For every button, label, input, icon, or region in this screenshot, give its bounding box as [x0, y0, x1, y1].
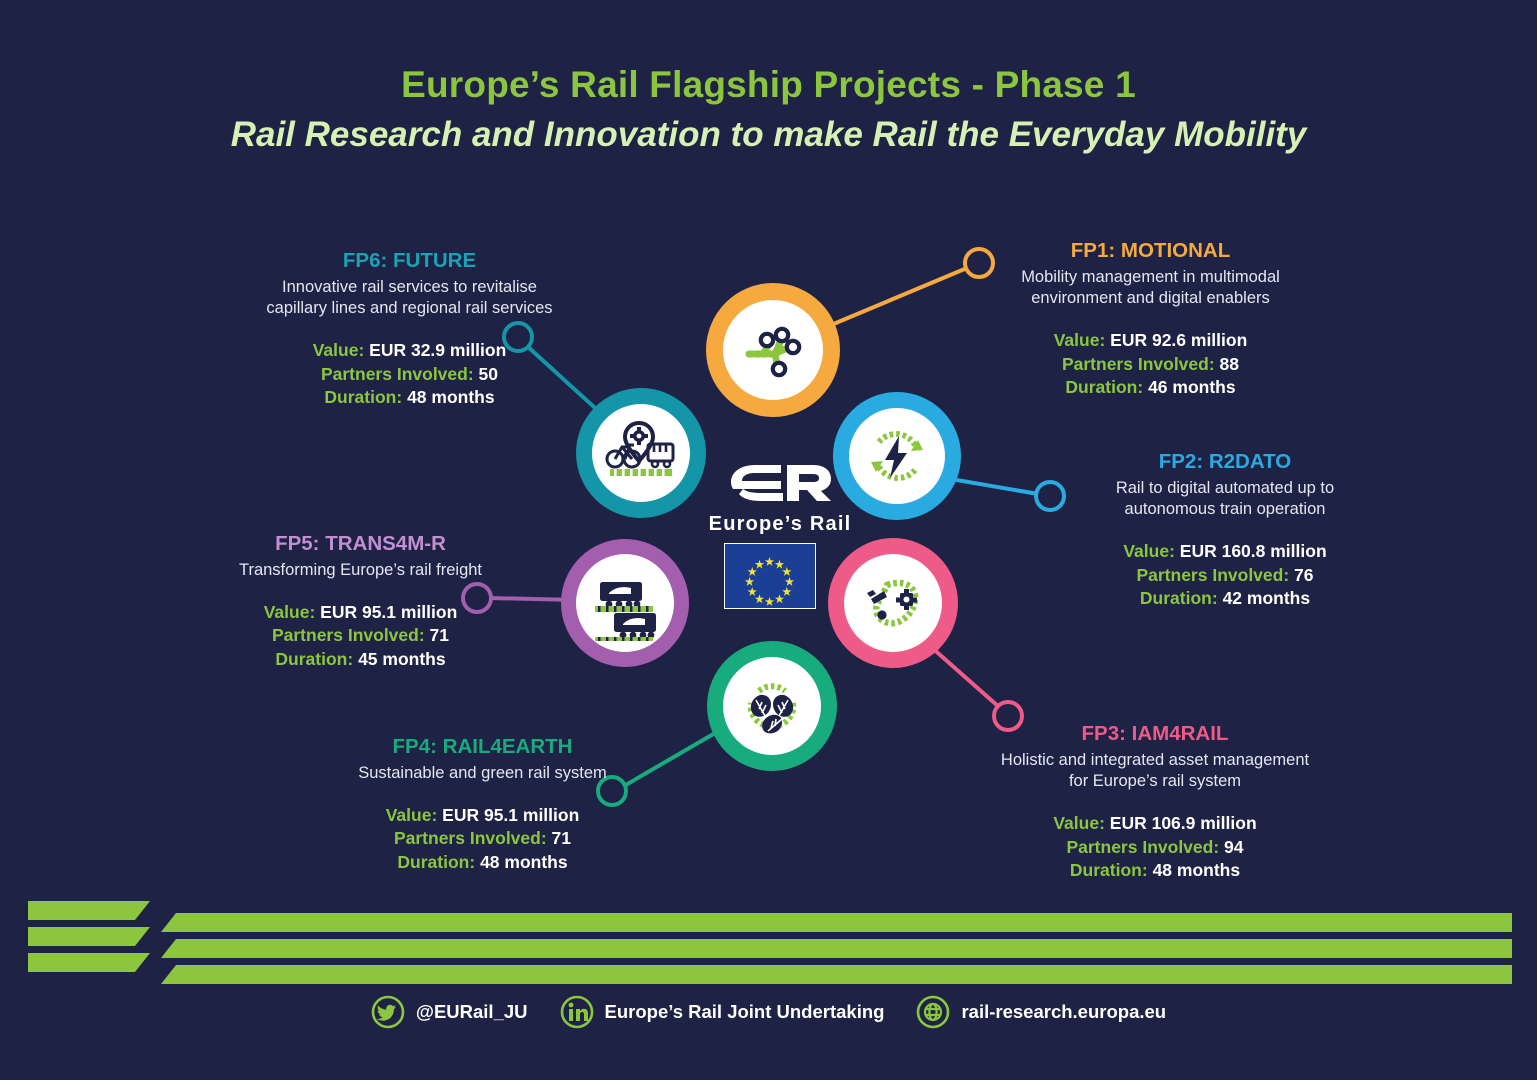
partners-fp1: 88 — [1220, 354, 1239, 374]
duration-fp4: 48 months — [480, 852, 568, 872]
logo-wordmark: Europe’s Rail — [700, 513, 860, 536]
project-title-fp2: FP2: R2DATO — [1075, 450, 1375, 475]
project-info-fp5: FP5: TRANS4M-R Transforming Europe’s rai… — [238, 532, 483, 671]
project-info-fp6: FP6: FUTURE Innovative rail services to … — [262, 249, 557, 409]
duration-fp1: 46 months — [1148, 377, 1236, 397]
partners-fp4: 71 — [552, 828, 571, 848]
project-stats-fp1: Value: EUR 92.6 million Partners Involve… — [993, 329, 1308, 399]
project-stats-fp6: Value: EUR 32.9 million Partners Involve… — [262, 339, 557, 409]
value-label: Value: — [386, 805, 438, 825]
social-label-twitter: @EURail_JU — [416, 1001, 528, 1023]
european-union-flag — [724, 543, 816, 609]
project-stats-fp5: Value: EUR 95.1 million Partners Involve… — [238, 601, 483, 671]
infographic-canvas: Europe’s Rail Flagship Projects - Phase … — [0, 0, 1537, 1080]
duration-label: Duration: — [1065, 377, 1143, 397]
page-title: Europe’s Rail Flagship Projects - Phase … — [0, 62, 1537, 157]
project-desc-fp2: Rail to digital automated up to autonomo… — [1075, 478, 1375, 521]
title-subtitle: Rail Research and Innovation to make Rai… — [0, 113, 1537, 157]
partners-label: Partners Involved: — [1136, 565, 1289, 585]
value-label: Value: — [1053, 813, 1105, 833]
partners-label: Partners Involved: — [1066, 837, 1219, 857]
leaves-recycle-icon — [735, 669, 809, 743]
project-hub-fp5[interactable] — [561, 539, 689, 667]
value-label: Value: — [264, 602, 316, 622]
project-info-fp2: FP2: R2DATO Rail to digital automated up… — [1075, 450, 1375, 610]
project-title-fp1: FP1: MOTIONAL — [993, 239, 1308, 264]
social-item-linkedin[interactable]: Europe’s Rail Joint Undertaking — [560, 995, 885, 1029]
eu-stars-icon — [725, 544, 814, 607]
partners-fp6: 50 — [479, 364, 498, 384]
partners-label: Partners Involved: — [272, 625, 425, 645]
value-fp6: EUR 32.9 million — [369, 340, 506, 360]
duration-label: Duration: — [397, 852, 475, 872]
project-desc-fp1: Mobility management in multimodal enviro… — [993, 267, 1308, 310]
value-label: Value: — [313, 340, 365, 360]
duration-label: Duration: — [1070, 860, 1148, 880]
project-title-fp4: FP4: RAIL4EARTH — [330, 735, 635, 760]
title-main: Europe’s Rail Flagship Projects - Phase … — [0, 62, 1537, 107]
project-desc-fp4: Sustainable and green rail system — [330, 763, 635, 784]
project-stats-fp4: Value: EUR 95.1 million Partners Involve… — [330, 804, 635, 874]
linkedin-icon[interactable] — [560, 995, 594, 1029]
duration-fp2: 42 months — [1223, 588, 1311, 608]
europes-rail-logo: Europe’s Rail — [700, 452, 860, 536]
duration-fp5: 45 months — [358, 649, 446, 669]
social-bar: @EURail_JU Europe’s Rail Joint Undertaki… — [0, 995, 1537, 1029]
partners-label: Partners Involved: — [1062, 354, 1215, 374]
twitter-icon[interactable] — [371, 995, 405, 1029]
project-info-fp1: FP1: MOTIONAL Mobility management in mul… — [993, 239, 1308, 399]
partners-label: Partners Involved: — [394, 828, 547, 848]
partners-fp5: 71 — [430, 625, 449, 645]
social-label-linkedin: Europe’s Rail Joint Undertaking — [605, 1001, 885, 1023]
project-title-fp3: FP3: IAM4RAIL — [1000, 722, 1310, 747]
value-fp1: EUR 92.6 million — [1110, 330, 1247, 350]
partners-fp3: 94 — [1224, 837, 1243, 857]
wrench-gear-track-icon — [857, 567, 929, 639]
project-stats-fp3: Value: EUR 106.9 million Partners Involv… — [1000, 812, 1310, 882]
duration-fp6: 48 months — [407, 387, 495, 407]
project-desc-fp5: Transforming Europe’s rail freight — [238, 560, 483, 581]
value-fp4: EUR 95.1 million — [442, 805, 579, 825]
project-info-fp4: FP4: RAIL4EARTH Sustainable and green ra… — [330, 735, 635, 874]
er-logo-mark — [725, 452, 835, 506]
project-hub-fp3[interactable] — [828, 538, 958, 668]
project-stats-fp2: Value: EUR 160.8 million Partners Involv… — [1075, 540, 1375, 610]
project-hub-fp4[interactable] — [707, 641, 837, 771]
project-title-fp6: FP6: FUTURE — [262, 249, 557, 274]
duration-fp3: 48 months — [1153, 860, 1241, 880]
value-fp3: EUR 106.9 million — [1110, 813, 1257, 833]
value-label: Value: — [1123, 541, 1175, 561]
project-desc-fp6: Innovative rail services to revitalise c… — [262, 277, 557, 320]
partners-label: Partners Involved: — [321, 364, 474, 384]
duration-label: Duration: — [324, 387, 402, 407]
project-info-fp3: FP3: IAM4RAIL Holistic and integrated as… — [1000, 722, 1310, 882]
lightning-recycle-icon — [861, 420, 933, 492]
partners-fp2: 76 — [1294, 565, 1313, 585]
project-desc-fp3: Holistic and integrated asset management… — [1000, 750, 1310, 793]
social-item-twitter[interactable]: @EURail_JU — [371, 995, 528, 1029]
freight-wagons-icon — [587, 565, 663, 641]
bike-pin-tram-icon — [603, 415, 679, 491]
project-hub-fp6[interactable] — [576, 388, 706, 518]
footer-stripes — [0, 893, 1537, 985]
globe-icon[interactable] — [916, 995, 950, 1029]
social-item-website[interactable]: rail-research.europa.eu — [916, 995, 1166, 1029]
project-title-fp5: FP5: TRANS4M-R — [238, 532, 483, 557]
value-fp5: EUR 95.1 million — [320, 602, 457, 622]
duration-label: Duration: — [1140, 588, 1218, 608]
duration-label: Duration: — [275, 649, 353, 669]
social-label-website: rail-research.europa.eu — [961, 1001, 1166, 1023]
value-fp2: EUR 160.8 million — [1180, 541, 1327, 561]
value-label: Value: — [1054, 330, 1106, 350]
network-nodes-icon — [737, 314, 809, 386]
project-hub-fp1[interactable] — [706, 283, 840, 417]
